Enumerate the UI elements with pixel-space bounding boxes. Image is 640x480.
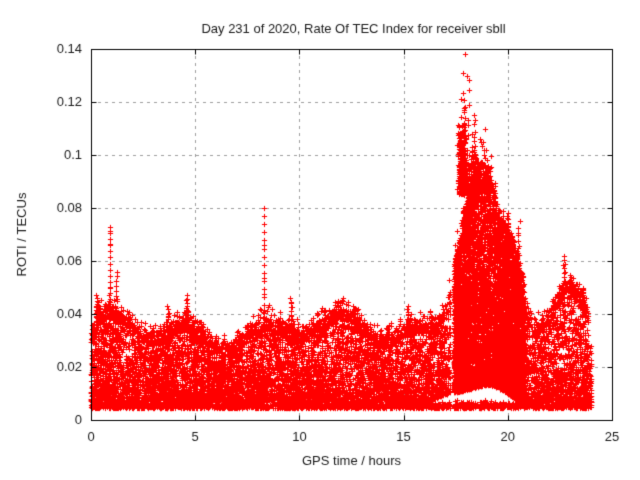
roti-scatter-plot: [0, 0, 640, 480]
plot-page: [0, 0, 640, 480]
